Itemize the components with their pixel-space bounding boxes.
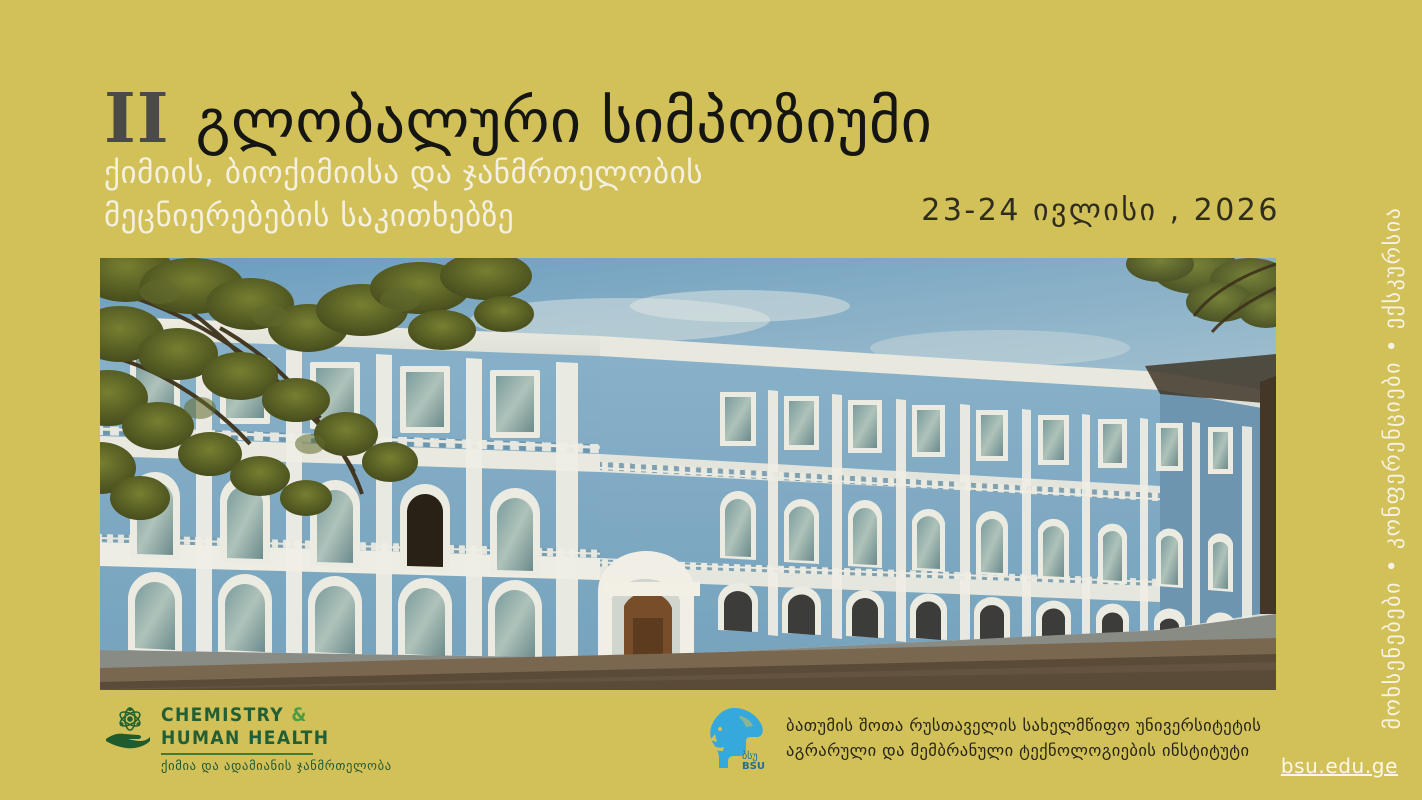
bsu-name-line-1: ბათუმის შოთა რუსთაველის სახელმწიფო უნივე…	[786, 714, 1261, 739]
page-title: გლობალური სიმპოზიუმი	[196, 92, 933, 152]
subtitle-line-2: მეცნიერებების საკითხებზე	[104, 195, 703, 238]
chh-divider	[161, 753, 313, 755]
chh-line-2: HUMAN HEALTH	[161, 727, 392, 750]
roman-numeral: II	[104, 85, 170, 153]
ampersand: &	[291, 704, 307, 726]
chh-georgian-label: ქიმია და ადამიანის ჯანმრთელობა	[161, 758, 392, 773]
building-photo-illustration	[100, 258, 1276, 690]
bsu-institute-block: ბსუ BSU ბათუმის შოთა რუსთაველის სახელმწი…	[706, 706, 1261, 772]
bsu-head-profile-icon: ბსუ BSU	[706, 706, 772, 772]
building-photo	[100, 258, 1276, 690]
hand-holding-atom-icon	[104, 706, 152, 750]
bsu-institute-name: ბათუმის შოთა რუსთაველის სახელმწიფო უნივე…	[786, 714, 1261, 764]
subtitle: ქიმიის, ბიოქიმიისა და ჯანმრთელობის მეცნი…	[104, 152, 703, 238]
bsu-name-line-2: აგრარული და მემბრანული ტექნოლოგიების ინს…	[786, 739, 1261, 764]
bsu-mark-en: BSU	[742, 761, 765, 772]
chemistry-logo-text: CHEMISTRY & HUMAN HEALTH ქიმია და ადამია…	[161, 704, 392, 773]
website-link[interactable]: bsu.edu.ge	[1281, 754, 1398, 778]
side-banner: მოხსენებები • კონფერენციები • ექსკურსია	[1370, 248, 1416, 688]
chh-line-1: CHEMISTRY &	[161, 704, 392, 727]
chemistry-human-health-logo: CHEMISTRY & HUMAN HEALTH ქიმია და ადამია…	[104, 704, 392, 773]
event-date: 23-24 ივლისი , 2026	[921, 193, 1280, 228]
subtitle-line-1: ქიმიის, ბიოქიმიისა და ჯანმრთელობის	[104, 152, 703, 195]
symposium-poster: II გლობალური სიმპოზიუმი ქიმიის, ბიოქიმიი…	[0, 0, 1422, 800]
side-banner-label: მოხსენებები • კონფერენციები • ექსკურსია	[1381, 207, 1406, 730]
